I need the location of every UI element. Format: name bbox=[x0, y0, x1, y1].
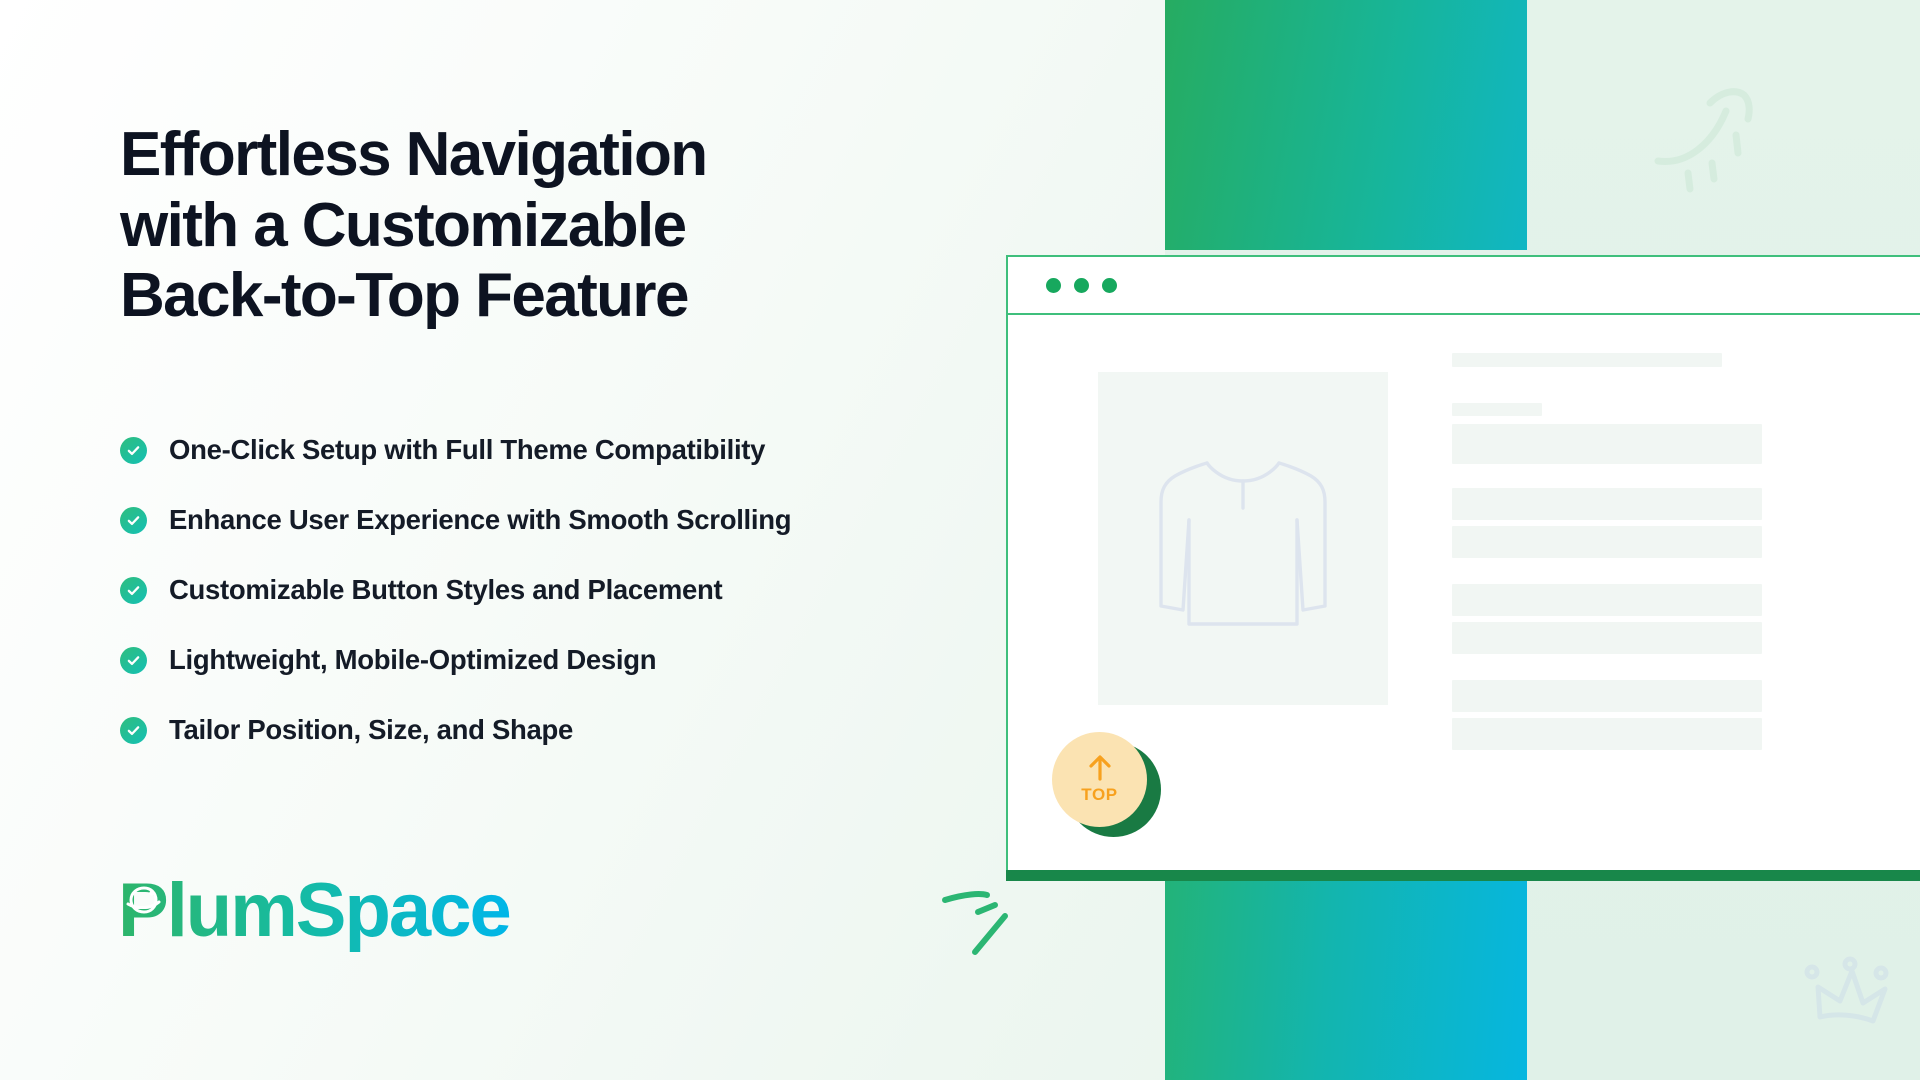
skeleton-line bbox=[1452, 622, 1762, 654]
back-to-top-button[interactable]: TOP bbox=[1052, 732, 1147, 827]
feature-label: Enhance User Experience with Smooth Scro… bbox=[169, 504, 791, 536]
list-item: Enhance User Experience with Smooth Scro… bbox=[120, 485, 960, 555]
window-dot-icon bbox=[1046, 278, 1061, 293]
poster-stage: Effortless Navigation with a Customizabl… bbox=[0, 0, 1920, 1080]
back-to-top-label: TOP bbox=[1081, 785, 1117, 805]
arrow-up-icon bbox=[1087, 754, 1113, 782]
list-item: Tailor Position, Size, and Shape bbox=[120, 695, 960, 765]
brand-logo[interactable]: PlumSpace bbox=[118, 870, 528, 956]
background-gradient-band-top bbox=[1165, 0, 1527, 250]
headline-line-1: Effortless Navigation bbox=[120, 120, 950, 191]
list-item: One-Click Setup with Full Theme Compatib… bbox=[120, 415, 960, 485]
check-circle-icon bbox=[120, 647, 147, 674]
feature-list: One-Click Setup with Full Theme Compatib… bbox=[120, 415, 960, 765]
feature-label: One-Click Setup with Full Theme Compatib… bbox=[169, 434, 765, 466]
feature-label: Customizable Button Styles and Placement bbox=[169, 574, 722, 606]
page-title: Effortless Navigation with a Customizabl… bbox=[120, 120, 950, 332]
back-to-top-widget: TOP bbox=[1048, 730, 1166, 840]
list-item: Lightweight, Mobile-Optimized Design bbox=[120, 625, 960, 695]
window-dot-icon bbox=[1074, 278, 1089, 293]
product-image-placeholder bbox=[1098, 372, 1388, 705]
background-gradient-band-bottom bbox=[1165, 862, 1527, 1080]
browser-titlebar bbox=[1008, 257, 1920, 315]
window-dot-icon bbox=[1102, 278, 1117, 293]
long-sleeve-shirt-icon bbox=[1145, 446, 1341, 632]
check-circle-icon bbox=[120, 717, 147, 744]
headline-line-2: with a Customizable bbox=[120, 191, 950, 262]
svg-text:PlumSpace: PlumSpace bbox=[118, 870, 510, 953]
skeleton-block bbox=[1452, 424, 1762, 464]
skeleton-line bbox=[1452, 584, 1762, 616]
check-circle-icon bbox=[120, 507, 147, 534]
plumspace-wordmark: PlumSpace bbox=[118, 870, 528, 956]
speed-lines-doodle bbox=[925, 880, 1050, 990]
feature-label: Tailor Position, Size, and Shape bbox=[169, 714, 573, 746]
headline-block: Effortless Navigation with a Customizabl… bbox=[120, 120, 950, 332]
skeleton-title bbox=[1452, 353, 1722, 367]
skeleton-line bbox=[1452, 526, 1762, 558]
headline-line-3: Back-to-Top Feature bbox=[120, 261, 950, 332]
browser-footer-bar bbox=[1006, 870, 1920, 881]
product-info-placeholder bbox=[1452, 353, 1782, 756]
check-circle-icon bbox=[120, 437, 147, 464]
check-circle-icon bbox=[120, 577, 147, 604]
list-item: Customizable Button Styles and Placement bbox=[120, 555, 960, 625]
feature-label: Lightweight, Mobile-Optimized Design bbox=[169, 644, 656, 676]
skeleton-subtitle bbox=[1452, 403, 1542, 416]
skeleton-line bbox=[1452, 718, 1762, 750]
skeleton-line bbox=[1452, 488, 1762, 520]
skeleton-line bbox=[1452, 680, 1762, 712]
